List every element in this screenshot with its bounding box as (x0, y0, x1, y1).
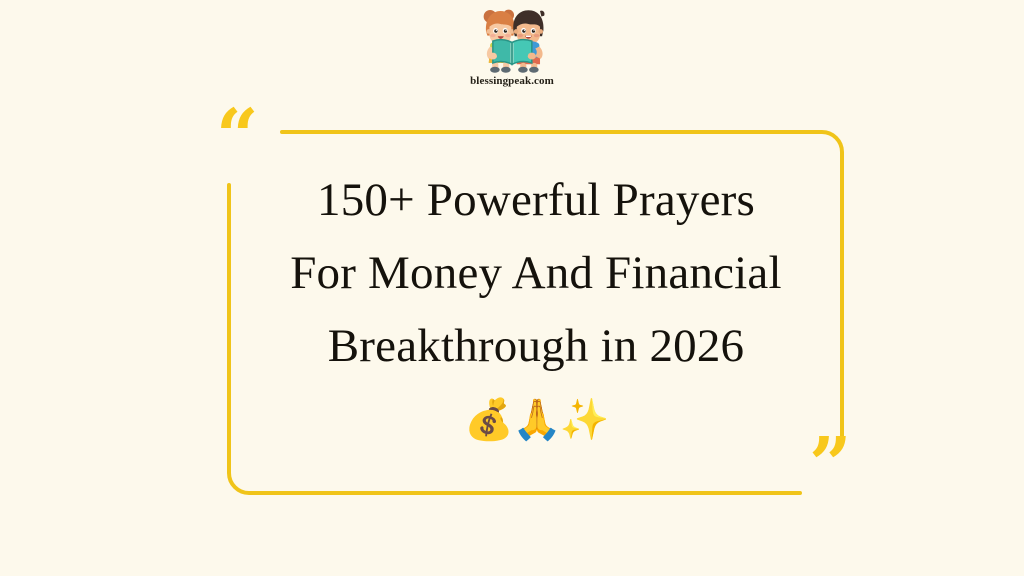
site-domain-text: blessingpeak.com (470, 75, 554, 87)
quote-card: “ ” 150+ Powerful Prayers For Money And … (225, 128, 847, 494)
site-branding: blessingpeak.com (0, 4, 1024, 87)
headline-line-1: 150+ Powerful Prayers (225, 164, 847, 237)
headline-line-3: Breakthrough in 2026 (225, 310, 847, 383)
emoji-decoration-row: 💰🙏✨ (225, 396, 847, 444)
headline-line-2: For Money And Financial (225, 237, 847, 310)
two-children-reading-book-icon (471, 4, 553, 74)
page-title: 150+ Powerful Prayers For Money And Fina… (225, 164, 847, 383)
open-quote-mark: “ (216, 100, 257, 174)
